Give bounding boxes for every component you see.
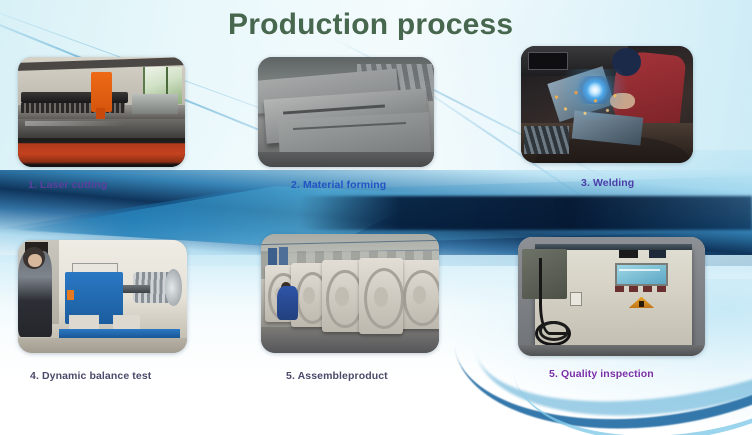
photo-assemble-product	[261, 234, 439, 353]
photo-laser-cutting	[18, 57, 185, 167]
step-photo-quality-inspection[interactable]	[518, 237, 705, 356]
step-photo-dynamic-balance-test[interactable]	[18, 240, 187, 353]
photo-material-forming	[258, 57, 434, 167]
step-caption-assemble-product: 5. Assembleproduct	[286, 370, 388, 382]
step-photo-material-forming[interactable]	[258, 57, 434, 167]
photo-quality-inspection	[518, 237, 705, 356]
photo-welding	[521, 46, 693, 163]
photo-dynamic-balance-test	[18, 240, 187, 353]
step-caption-laser-cutting: 1. Laser cutting	[28, 179, 107, 191]
step-caption-dynamic-balance-test: 4. Dynamic balance test	[30, 370, 151, 382]
step-photo-laser-cutting[interactable]	[18, 57, 185, 167]
step-caption-quality-inspection: 5. Quality inspection	[549, 368, 654, 380]
step-photo-assemble-product[interactable]	[261, 234, 439, 353]
step-caption-welding: 3. Welding	[581, 177, 634, 189]
page-title: Production process	[228, 8, 513, 42]
production-process-poster: Production process 1. Laser cutting 2. M…	[0, 0, 752, 435]
step-caption-material-forming: 2. Material forming	[291, 179, 386, 191]
step-photo-welding[interactable]	[521, 46, 693, 163]
